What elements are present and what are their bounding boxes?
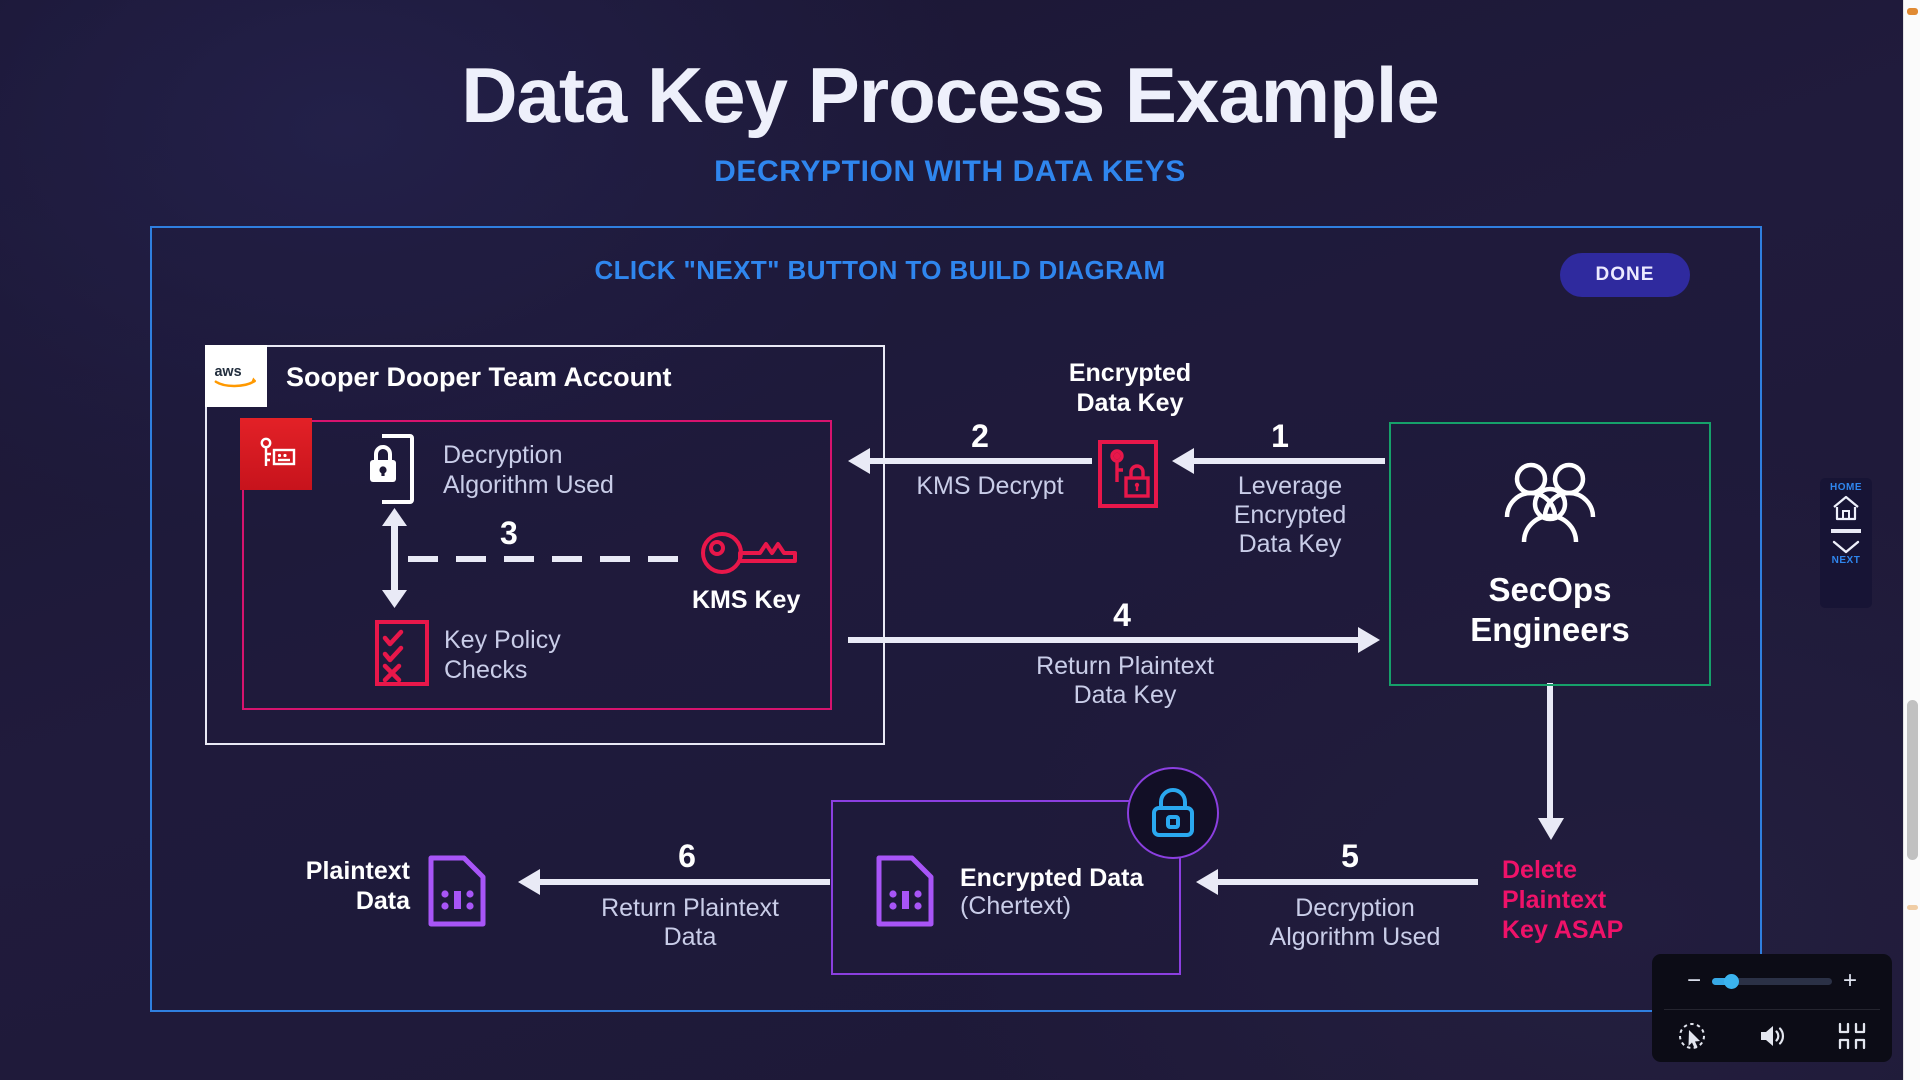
policy-label-line2: Checks — [444, 655, 561, 685]
collapse-fullscreen-icon[interactable] — [1837, 1021, 1867, 1051]
step-2-number: 2 — [930, 418, 1030, 455]
step-2-label: KMS Decrypt — [880, 472, 1100, 501]
svg-text:aws: aws — [214, 364, 241, 380]
delete-note-arrow-line — [1547, 683, 1553, 823]
step-4-arrow-head — [1358, 627, 1380, 653]
step-4-label: Return Plaintext Data Key — [1000, 652, 1250, 710]
step-1-arrow-head — [1172, 448, 1194, 474]
aws-logo-icon: aws — [205, 345, 267, 407]
step-2-arrow-line — [868, 458, 1092, 464]
zoom-slider[interactable] — [1712, 978, 1832, 985]
step-1-label-line1: Leverage — [1190, 472, 1390, 501]
step-5-arrow-line — [1218, 879, 1478, 885]
step-4-arrow-line — [848, 637, 1360, 643]
encrypted-data-title: Encrypted Data — [960, 864, 1143, 893]
data-file-icon — [428, 855, 486, 927]
step-6-label-line1: Return Plaintext — [565, 894, 815, 923]
step-2-arrow-head — [848, 448, 870, 474]
step-5-number: 5 — [1300, 838, 1400, 875]
scrollbar-thumb[interactable] — [1907, 700, 1918, 860]
data-file-icon — [876, 855, 934, 927]
encrypted-data-subtitle: (Chertext) — [960, 892, 1071, 921]
decryption-algorithm-label: Decryption Algorithm Used — [443, 440, 614, 500]
step-4-label-line1: Return Plaintext — [1000, 652, 1250, 681]
step-1-arrow-line — [1185, 458, 1385, 464]
edk-title-line2: Data Key — [1000, 388, 1260, 418]
scrollbar-marker-bottom — [1907, 905, 1918, 910]
step-6-arrow-head — [518, 869, 540, 895]
select-pointer-icon[interactable] — [1677, 1021, 1707, 1051]
page-subtitle: DECRYPTION WITH DATA KEYS — [0, 155, 1900, 189]
encrypted-key-document-icon — [1098, 440, 1158, 508]
delete-note-line1: Delete — [1502, 855, 1702, 885]
home-icon[interactable] — [1832, 495, 1860, 521]
presentation-stage: Data Key Process Example DECRYPTION WITH… — [0, 0, 1920, 1080]
step-1-label: Leverage Encrypted Data Key — [1190, 472, 1390, 559]
account-title: Sooper Dooper Team Account — [286, 362, 672, 393]
step-3-dashed-connector — [408, 556, 680, 562]
next-caption: NEXT — [1832, 555, 1861, 566]
step-5-label-line1: Decryption — [1230, 894, 1480, 923]
nav-divider — [1831, 529, 1861, 533]
step-1-label-line3: Data Key — [1190, 530, 1390, 559]
kms-key-card-icon — [240, 418, 312, 490]
decryption-label-line1: Decryption — [443, 440, 614, 470]
slide-navigation-panel: HOME NEXT — [1820, 478, 1872, 608]
padlock-icon — [1127, 767, 1219, 859]
step-5-label: Decryption Algorithm Used — [1230, 894, 1480, 952]
key-policy-checks-label: Key Policy Checks — [444, 625, 561, 685]
step-5-label-line2: Algorithm Used — [1230, 923, 1480, 952]
delete-note-arrow-head — [1538, 818, 1564, 840]
step-1-number: 1 — [1230, 418, 1330, 455]
users-group-icon — [1498, 462, 1602, 544]
edk-title-line1: Encrypted — [1000, 358, 1260, 388]
chevron-down-icon[interactable] — [1832, 539, 1860, 555]
checklist-icon — [375, 620, 429, 686]
page-scrollbar[interactable] — [1903, 0, 1920, 1080]
step-3-number: 3 — [500, 515, 518, 552]
step-6-number: 6 — [637, 838, 737, 875]
step-5-arrow-head — [1196, 869, 1218, 895]
page-title: Data Key Process Example — [0, 50, 1900, 141]
secops-label-line1: SecOps — [1389, 570, 1711, 610]
secops-label-line2: Engineers — [1389, 610, 1711, 650]
plaintext-data-label: Plaintext Data — [280, 856, 410, 916]
step-4-number: 4 — [1072, 597, 1172, 634]
kms-key-label: KMS Key — [692, 586, 800, 615]
secops-engineers-label: SecOps Engineers — [1389, 570, 1711, 650]
bidirectional-vertical-arrow — [380, 508, 410, 608]
scrollbar-marker-top — [1907, 8, 1918, 15]
step-6-arrow-line — [540, 879, 830, 885]
step-6-label: Return Plaintext Data — [565, 894, 815, 952]
plaintext-label-line1: Plaintext — [280, 856, 410, 886]
policy-label-line1: Key Policy — [444, 625, 561, 655]
delete-plaintext-key-note: Delete Plaintext Key ASAP — [1502, 855, 1702, 945]
delete-note-line3: Key ASAP — [1502, 915, 1702, 945]
document-lock-icon — [368, 434, 424, 504]
key-icon — [700, 528, 800, 578]
zoom-in-button[interactable]: + — [1843, 971, 1857, 991]
zoom-slider-thumb[interactable] — [1724, 974, 1739, 989]
done-button[interactable]: DONE — [1560, 253, 1690, 297]
delete-note-line2: Plaintext — [1502, 885, 1702, 915]
home-caption: HOME — [1830, 482, 1862, 493]
plaintext-label-line2: Data — [280, 886, 410, 916]
encrypted-data-key-title: Encrypted Data Key — [1000, 358, 1260, 418]
toolbar-icon-row — [1652, 1010, 1892, 1062]
decryption-label-line2: Algorithm Used — [443, 470, 614, 500]
step-6-label-line2: Data — [565, 923, 815, 952]
speaker-icon[interactable] — [1757, 1021, 1787, 1051]
zoom-control-row: − + — [1652, 954, 1892, 1008]
step-4-label-line2: Data Key — [1000, 681, 1250, 710]
player-toolbar: − + — [1652, 954, 1892, 1062]
step-1-label-line2: Encrypted — [1190, 501, 1390, 530]
zoom-out-button[interactable]: − — [1687, 972, 1701, 990]
build-instruction-text: CLICK "NEXT" BUTTON TO BUILD DIAGRAM — [0, 255, 1760, 286]
